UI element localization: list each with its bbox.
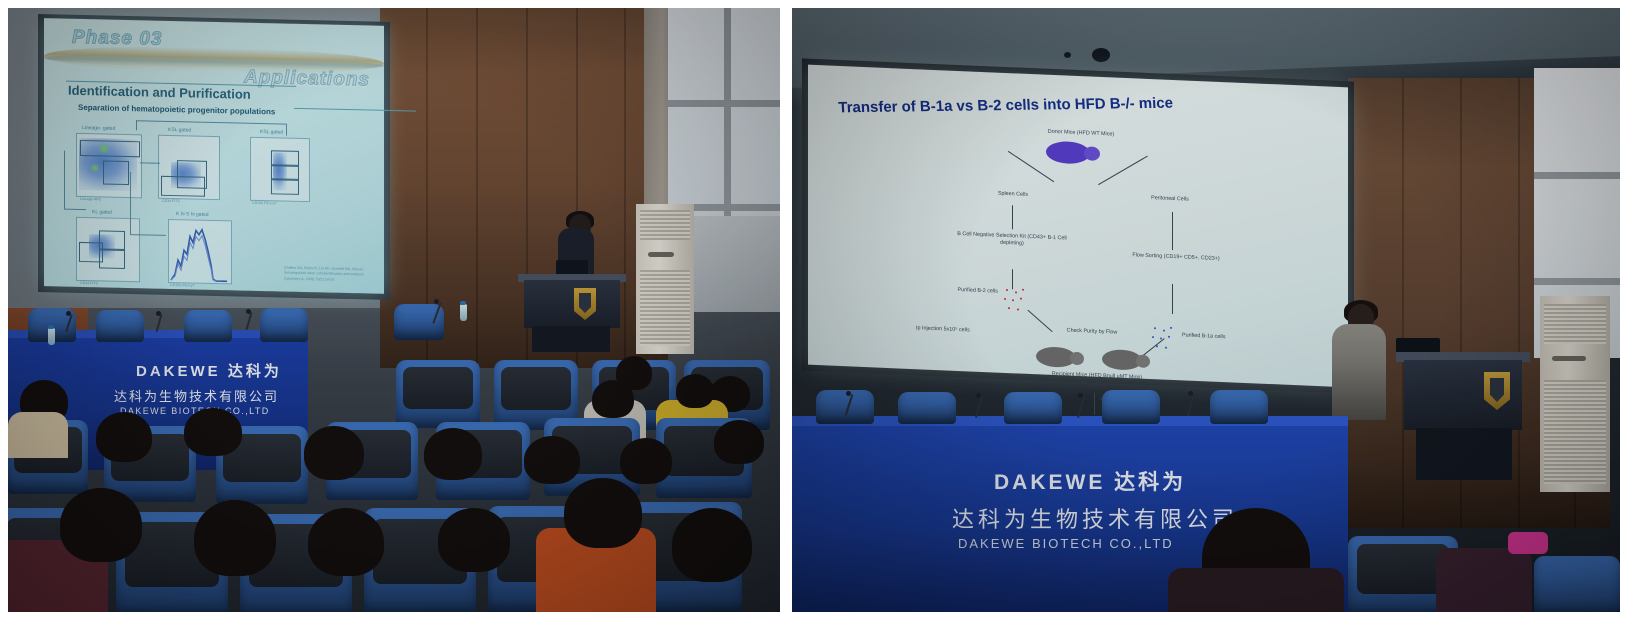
fc-plot-2 <box>158 135 220 200</box>
slide-heading: Identification and Purification <box>68 83 251 102</box>
audience-member <box>620 438 672 484</box>
histogram-curve <box>169 220 231 283</box>
audience-member <box>308 508 384 576</box>
recipient-mouse-head-icon <box>1136 354 1150 368</box>
audience-member-body <box>1436 548 1532 612</box>
banner-company-en-right: DAKEWE BIOTECH CO.,LTD <box>958 536 1174 551</box>
fc-plot-1 <box>76 133 142 198</box>
slide-citation: Challen GA, Boles N, Lin KK, Goodell MA.… <box>284 265 376 283</box>
seated-staff-body <box>8 412 68 458</box>
two-photo-composite: Phase 03 Applications Identification and… <box>0 0 1628 620</box>
left-photo-audience-view: Phase 03 Applications Identification and… <box>8 8 780 612</box>
stage-chair <box>898 392 956 424</box>
banner-company-cn-left: 达科为生物技术有限公司 <box>114 386 279 405</box>
diagram-node-negative-selection: B Cell Negative Selection Kit (CD43+ B-1… <box>948 231 1076 251</box>
diagram-node-purified-b2: Purified B-2 cells <box>920 285 998 296</box>
podium-base-right <box>1416 428 1512 480</box>
audience-member <box>60 488 142 562</box>
banner-logo-right: DAKEWE 达科为 <box>994 466 1186 496</box>
audience-member <box>714 420 764 464</box>
water-bottle <box>460 304 467 321</box>
audience-member <box>564 478 642 548</box>
diagram-node-donor: Donor Mice (HFD WT Mice) <box>1006 127 1156 141</box>
slide-title-right: Transfer of B-1a vs B-2 cells into HFD B… <box>838 93 1318 117</box>
fc-plot-5 <box>168 219 232 284</box>
fc-xaxis-3: CD150 PE-Cy7 <box>252 201 277 206</box>
audience-member <box>96 412 152 462</box>
purified-b2-cells-icon <box>1002 287 1028 314</box>
fc-xaxis-4: CD34 FITC <box>80 281 98 285</box>
audience-member <box>672 508 752 582</box>
audience-member <box>592 380 634 418</box>
slide-section-label: Applications <box>244 67 370 92</box>
podium-base <box>532 326 610 352</box>
fc-gate-label-5: K hi S hi gated <box>176 211 209 218</box>
auditorium-seat <box>1534 556 1620 612</box>
right-photo-stage-view: Transfer of B-1a vs B-2 cells into HFD B… <box>792 8 1620 612</box>
fc-xaxis-2: CD34 FITC <box>162 199 180 203</box>
diagram-node-injection: Ip Injection 5x10⁵ cells <box>916 325 1004 336</box>
audience-member <box>184 408 242 456</box>
audience-member-body <box>1168 568 1344 612</box>
fc-xaxis-5: CD150 PE-Cy7 <box>170 283 195 288</box>
audience-member <box>676 374 714 408</box>
fc-gate-label-2: KSL gated <box>168 127 191 134</box>
ceiling-sensor-icon <box>1064 52 1071 58</box>
auditorium-seat <box>396 360 480 428</box>
fc-gate-label-4: KL gated <box>92 209 112 215</box>
podium-left <box>524 280 620 328</box>
banner-company-cn-right: 达科为生物技术有限公司 <box>952 502 1238 534</box>
audience-member <box>424 428 482 480</box>
air-conditioner-unit-right <box>1540 296 1610 492</box>
stage-chair <box>1004 392 1062 424</box>
slide-phase-label: Phase 03 <box>72 27 162 51</box>
banner-logo-left: DAKEWE 达科为 <box>136 360 282 381</box>
donor-mouse-head-icon <box>1084 146 1100 161</box>
fc-gate-label-3: KSL gated <box>260 129 283 136</box>
audience-member <box>438 508 510 572</box>
stage-chair <box>96 310 144 342</box>
pink-bag <box>1508 532 1548 554</box>
slide-subheading: Separation of hematopoietic progenitor p… <box>78 103 275 116</box>
ceiling-speaker-icon <box>1092 48 1110 62</box>
diagram-node-purified-b1a: Purified B-1a cells <box>1182 332 1278 343</box>
projection-screen-right: Transfer of B-1a vs B-2 cells into HFD B… <box>808 65 1348 388</box>
audience-member <box>524 436 580 484</box>
recipient-mouse-head-icon <box>1070 352 1084 366</box>
stage-chair <box>1210 390 1268 424</box>
water-bottle <box>48 328 55 345</box>
presenter-body-right <box>1332 324 1386 420</box>
stage-chair <box>1102 390 1160 424</box>
stage-chair <box>260 308 308 342</box>
fc-plot-3 <box>250 137 310 202</box>
fc-xaxis-1: Lineage-APC <box>80 197 101 201</box>
projection-screen-left: Phase 03 Applications Identification and… <box>44 18 384 294</box>
stage-chair <box>816 390 874 424</box>
audience-member <box>304 426 364 480</box>
audience-member <box>194 500 276 576</box>
diagram-node-flow-sorting: Flow Sorting (CD19+ CD5+, CD23+) <box>1114 252 1238 264</box>
fc-gate-label-1: Lineage- gated <box>82 125 115 132</box>
stage-chair <box>184 310 232 342</box>
diagram-node-peritoneal: Peritoneal Cells <box>1114 194 1226 206</box>
diagram-node-spleen: Spleen Cells <box>958 189 1068 201</box>
air-conditioner-unit <box>636 204 694 354</box>
